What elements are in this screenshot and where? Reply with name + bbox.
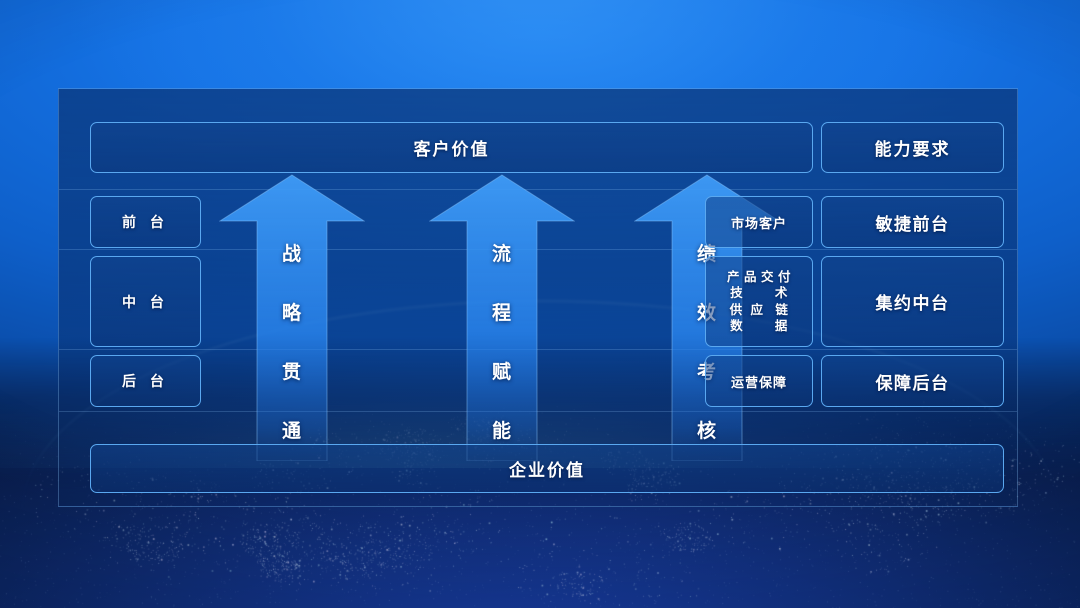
grid-separator-4 [59,411,1017,412]
capability-requirement-label: 能力要求 [875,135,951,160]
domain-core-line-3: 供 应 链 [730,302,789,318]
stage-middle-label: 中 台 [122,292,169,312]
domain-core-lines: 产 品 交 付 技 术 供 应 链 数 据 [706,269,812,334]
stage-middle: 中 台 [90,256,201,347]
arrow-strategy: 战 略 贯 通 [219,171,365,461]
grid-separator-3 [59,349,1017,350]
domain-market: 市场客户 [705,196,813,248]
capability-agile-front-label: 敏捷前台 [876,210,950,235]
stage-back: 后 台 [90,355,201,407]
grid-separator-1 [59,189,1017,190]
capability-requirement-header: 能力要求 [821,122,1004,173]
arrow-strategy-char-1: 战 [282,225,302,284]
stage-front-label: 前 台 [122,212,169,232]
domain-operations: 运营保障 [705,355,813,407]
domain-market-label: 市场客户 [731,213,787,232]
capability-secure-back-label: 保障后台 [876,369,950,394]
customer-value-bar: 客户价值 [90,122,813,173]
stage-front: 前 台 [90,196,201,248]
capability-agile-front: 敏捷前台 [821,196,1004,248]
domain-operations-label: 运营保障 [731,372,787,391]
domain-core-line-2: 技 术 [730,285,788,301]
grid-separator-2 [59,249,1017,250]
enterprise-value-bar: 企业价值 [90,444,1004,493]
arrow-process-label: 流 程 赋 能 [429,225,575,461]
capability-intensive-middle: 集约中台 [821,256,1004,347]
arrow-strategy-label: 战 略 贯 通 [219,225,365,461]
enterprise-value-label: 企业价值 [509,456,585,481]
arrow-strategy-char-2: 略 [282,284,302,343]
domain-core-line-4: 数 据 [730,318,788,334]
customer-value-label: 客户价值 [414,135,490,160]
capability-intensive-middle-label: 集约中台 [876,289,950,314]
arrow-strategy-char-3: 贯 [282,343,302,402]
arrow-process-char-1: 流 [492,225,512,284]
arrow-process-char-2: 程 [492,284,512,343]
domain-core-line-1: 产 品 交 付 [727,269,791,285]
capability-secure-back: 保障后台 [821,355,1004,407]
stage-back-label: 后 台 [122,371,169,391]
diagram-frame: 客户价值 能力要求 战 略 贯 通 [58,88,1018,507]
arrow-process: 流 程 赋 能 [429,171,575,461]
domain-core: 产 品 交 付 技 术 供 应 链 数 据 [705,256,813,347]
arrow-process-char-3: 赋 [492,343,512,402]
